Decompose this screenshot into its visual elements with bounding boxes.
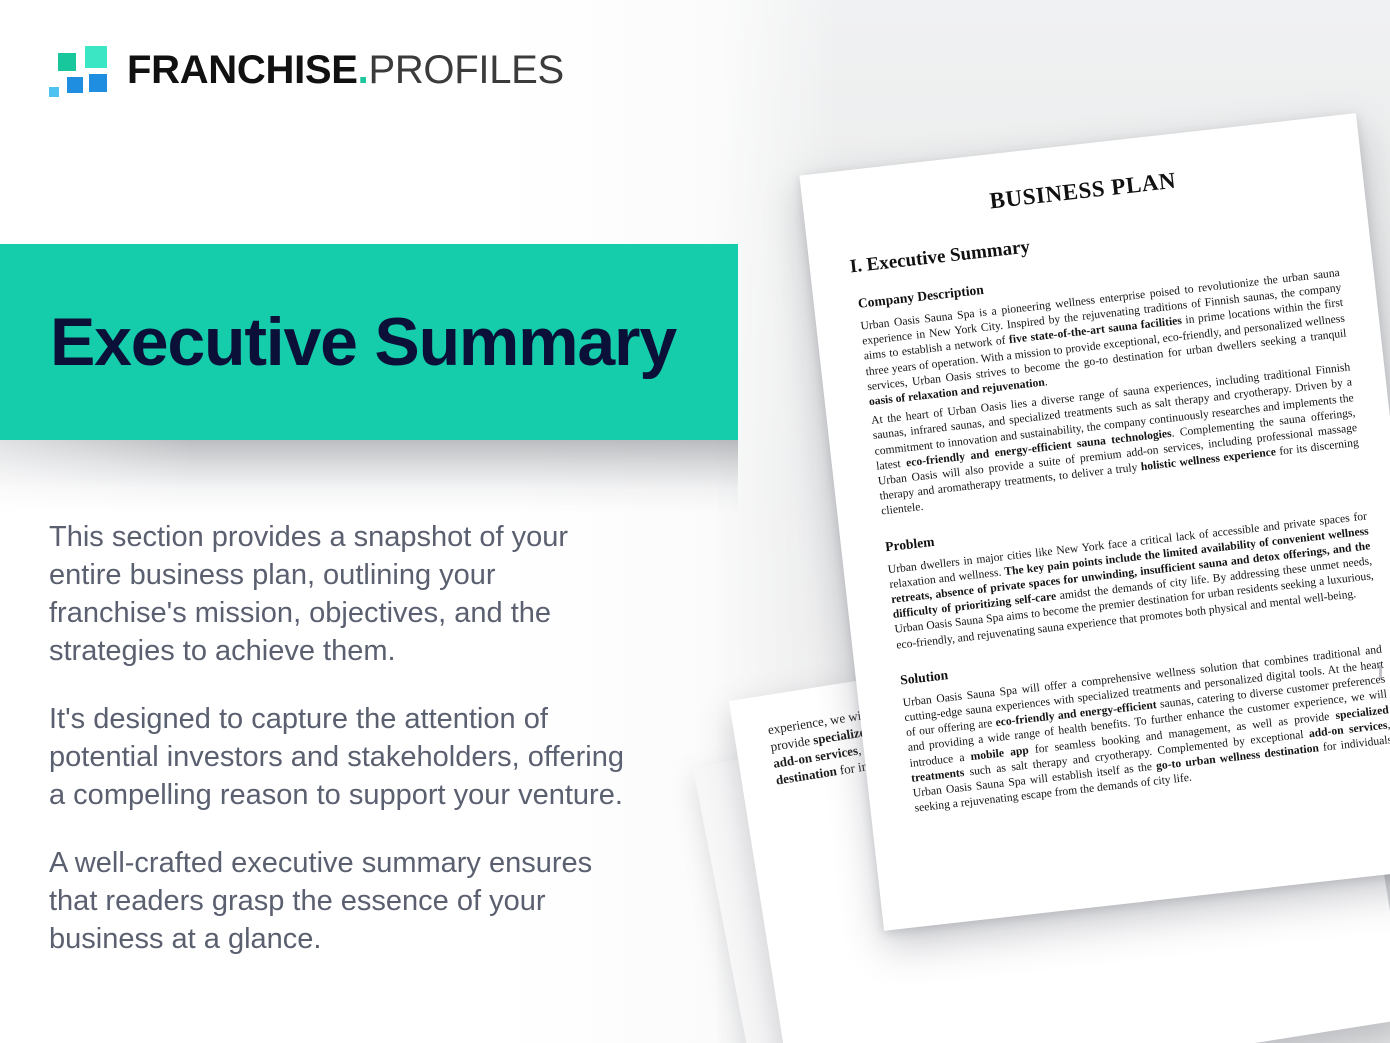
body-paragraph-1: This section provides a snapshot of your… [49, 518, 639, 670]
logo-square-green [56, 51, 78, 73]
brand-logo: FRANCHISE.PROFILES [47, 44, 564, 96]
body-copy: This section provides a snapshot of your… [49, 518, 639, 958]
logo-word-franchise: FRANCHISE [127, 48, 358, 92]
banner-drop-shadow [0, 440, 738, 512]
slide-root: FRANCHISE.PROFILES Executive Summary Thi… [0, 0, 1390, 1043]
document-page-front: BUSINESS PLAN I. Executive Summary Compa… [799, 113, 1390, 931]
logo-mark-icon [47, 44, 109, 96]
body-paragraph-3: A well-crafted executive summary ensures… [49, 844, 639, 958]
page-title: Executive Summary [0, 308, 676, 376]
logo-wordmark: FRANCHISE.PROFILES [127, 50, 564, 90]
logo-square-mint [83, 44, 109, 70]
logo-word-profiles: PROFILES [368, 48, 563, 92]
section-banner: Executive Summary [0, 244, 738, 440]
logo-square-blue-right [87, 72, 109, 94]
page-edge-tick [1379, 665, 1382, 679]
logo-square-light-blue [47, 85, 61, 99]
logo-square-blue-center [65, 75, 85, 95]
body-paragraph-2: It's designed to capture the attention o… [49, 700, 639, 814]
document-stack-image: experience, we will introduce a mobile a… [700, 120, 1390, 1040]
logo-dot: . [358, 48, 369, 92]
